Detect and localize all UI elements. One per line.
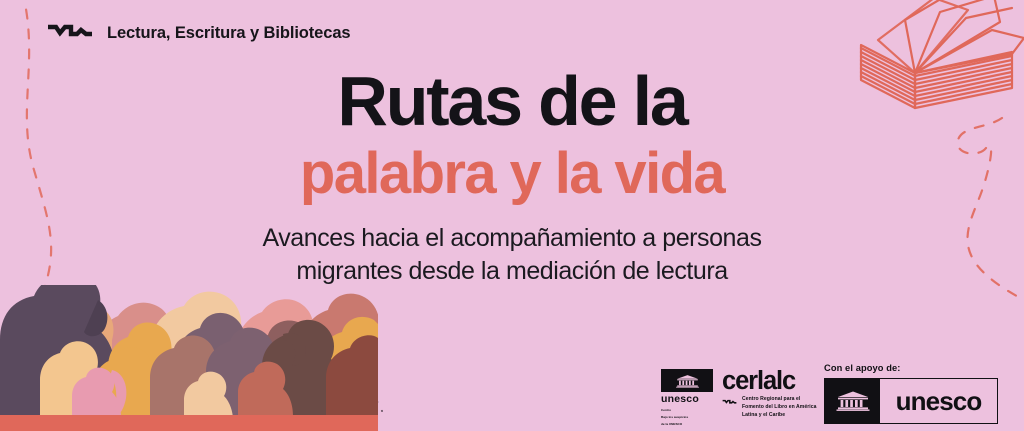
support-label: Con el apoyo de: <box>824 363 998 373</box>
brand-label: Lectura, Escritura y Bibliotecas <box>107 24 350 43</box>
brand-lockup: Lectura, Escritura y Bibliotecas <box>46 22 350 44</box>
support-block: Con el apoyo de: u <box>824 363 998 424</box>
cerlalc-unesco-wordmark: unesco <box>661 394 713 405</box>
ground-bar <box>0 415 378 431</box>
unesco-temple-icon <box>825 379 880 423</box>
unesco-wordmark: unesco <box>880 379 997 423</box>
subtitle-line-2: migrantes desde la mediación de lectura <box>202 255 822 288</box>
event-banner: Lectura, Escritura y Bibliotecas Rutas d… <box>0 0 1024 431</box>
headline-block: Rutas de la palabra y la vida Avances ha… <box>0 66 1024 288</box>
page-subtitle: Avances hacia el acompañamiento a person… <box>202 222 822 289</box>
cerlalc-wordmark-block: cerlalc Centro Regional para el Fomento … <box>722 369 817 420</box>
unesco-temple-icon <box>661 369 713 392</box>
cerlalc-unesco-fineprint-2: Bajo los auspicios <box>661 415 713 419</box>
wave-squiggle-icon <box>722 398 737 407</box>
cerlalc-unesco-fineprint-3: de la UNESCO <box>661 422 713 426</box>
subtitle-line-1: Avances hacia el acompañamiento a person… <box>202 222 822 255</box>
cerlalc-descriptor-line-1: Centro Regional para el <box>742 396 817 404</box>
cerlalc-logo[interactable]: unesco Centro Bajo los auspicios de la U… <box>661 369 817 426</box>
unesco-logo[interactable]: unesco <box>824 378 998 424</box>
page-title: Rutas de la <box>0 66 1024 136</box>
cerlalc-descriptor-line-3: Latina y el Caribe <box>742 412 817 420</box>
cerlalc-descriptor-row: Centro Regional para el Fomento del Libr… <box>722 396 817 420</box>
cerlalc-unesco-mark: unesco Centro Bajo los auspicios de la U… <box>661 369 713 426</box>
cerlalc-descriptor: Centro Regional para el Fomento del Libr… <box>742 396 817 420</box>
page-title-accent: palabra y la vida <box>0 142 1024 207</box>
cerlalc-descriptor-line-2: Fomento del Libro en América <box>742 404 817 412</box>
wave-squiggle-icon <box>46 22 94 44</box>
cerlalc-wordmark: cerlalc <box>722 369 817 393</box>
cerlalc-unesco-fineprint-1: Centro <box>661 408 713 412</box>
